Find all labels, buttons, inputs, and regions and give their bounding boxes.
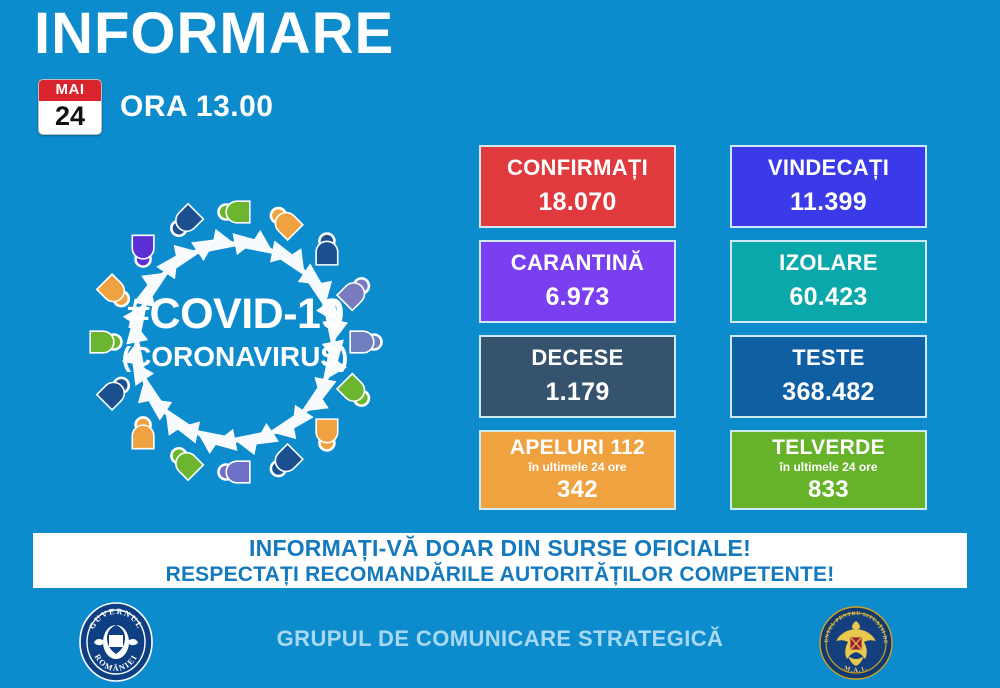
stat-value: 60.423 (789, 283, 867, 312)
banner-line-1: INFORMAȚI-VĂ DOAR DIN SURSE OFICIALE! (249, 535, 751, 562)
stat-label: TELVERDE (772, 436, 885, 459)
stats-row-1: CONFIRMAȚI 18.070 VINDECAȚI 11.399 (479, 145, 929, 228)
guvernul-romaniei-seal-icon: GUVERNUL ROMÂNIEI (78, 602, 154, 682)
stat-card-telverde[interactable]: TELVERDE în ultimele 24 ore 833 (730, 430, 927, 510)
stat-label: DECESE (531, 346, 623, 370)
stat-note: în ultimele 24 ore (528, 460, 626, 474)
stats-row-2: CARANTINĂ 6.973 IZOLARE 60.423 (479, 240, 929, 323)
stat-card-decese[interactable]: DECESE 1.179 (479, 335, 676, 418)
stat-card-confirmati[interactable]: CONFIRMAȚI 18.070 (479, 145, 676, 228)
stats-row-4: APELURI 112 în ultimele 24 ore 342 TELVE… (479, 430, 929, 510)
stat-label: CARANTINĂ (511, 251, 644, 275)
calendar-month: MAI (39, 80, 101, 101)
stat-value: 342 (557, 476, 598, 504)
departamentul-situatii-urgenta-seal-icon: DEPARTAMENTUL PENTRU SITUAȚII DE URGENȚĂ… (818, 604, 894, 682)
calendar-icon: MAI 24 (38, 79, 102, 135)
stat-value: 18.070 (538, 188, 616, 217)
header: INFORMARE MAI 24 ORA 13.00 (34, 4, 394, 135)
people-circle-svg (20, 160, 450, 525)
stat-card-teste[interactable]: TESTE 368.482 (730, 335, 927, 418)
stat-value: 833 (808, 476, 849, 504)
stat-card-izolare[interactable]: IZOLARE 60.423 (730, 240, 927, 323)
stat-value: 368.482 (782, 378, 874, 407)
stat-label: TESTE (792, 346, 864, 370)
stat-value: 6.973 (545, 283, 609, 312)
stat-value: 11.399 (790, 188, 867, 217)
banner-line-2: RESPECTAȚI RECOMANDĂRILE AUTORITĂȚILOR C… (166, 563, 835, 587)
page-title: INFORMARE (34, 4, 394, 65)
covid-circle-graphic: #COVID-19 (CORONAVIRUS) (20, 160, 450, 525)
header-subrow: MAI 24 ORA 13.00 (38, 79, 394, 135)
report-hour: ORA 13.00 (120, 90, 273, 124)
official-sources-banner: INFORMAȚI-VĂ DOAR DIN SURSE OFICIALE! RE… (33, 533, 967, 588)
stat-card-apeluri-112[interactable]: APELURI 112 în ultimele 24 ore 342 (479, 430, 676, 510)
stat-note: în ultimele 24 ore (779, 460, 877, 474)
stat-label: VINDECAȚI (768, 156, 889, 180)
stat-label: CONFIRMAȚI (507, 156, 648, 180)
stat-label: APELURI 112 (510, 436, 645, 459)
stats-row-3: DECESE 1.179 TESTE 368.482 (479, 335, 929, 418)
stat-card-vindecati[interactable]: VINDECAȚI 11.399 (730, 145, 927, 228)
calendar-day: 24 (39, 101, 101, 134)
stat-label: IZOLARE (779, 251, 878, 275)
stats-grid: CONFIRMAȚI 18.070 VINDECAȚI 11.399 CARAN… (479, 145, 929, 522)
stat-card-carantina[interactable]: CARANTINĂ 6.973 (479, 240, 676, 323)
stat-value: 1.179 (545, 378, 609, 407)
